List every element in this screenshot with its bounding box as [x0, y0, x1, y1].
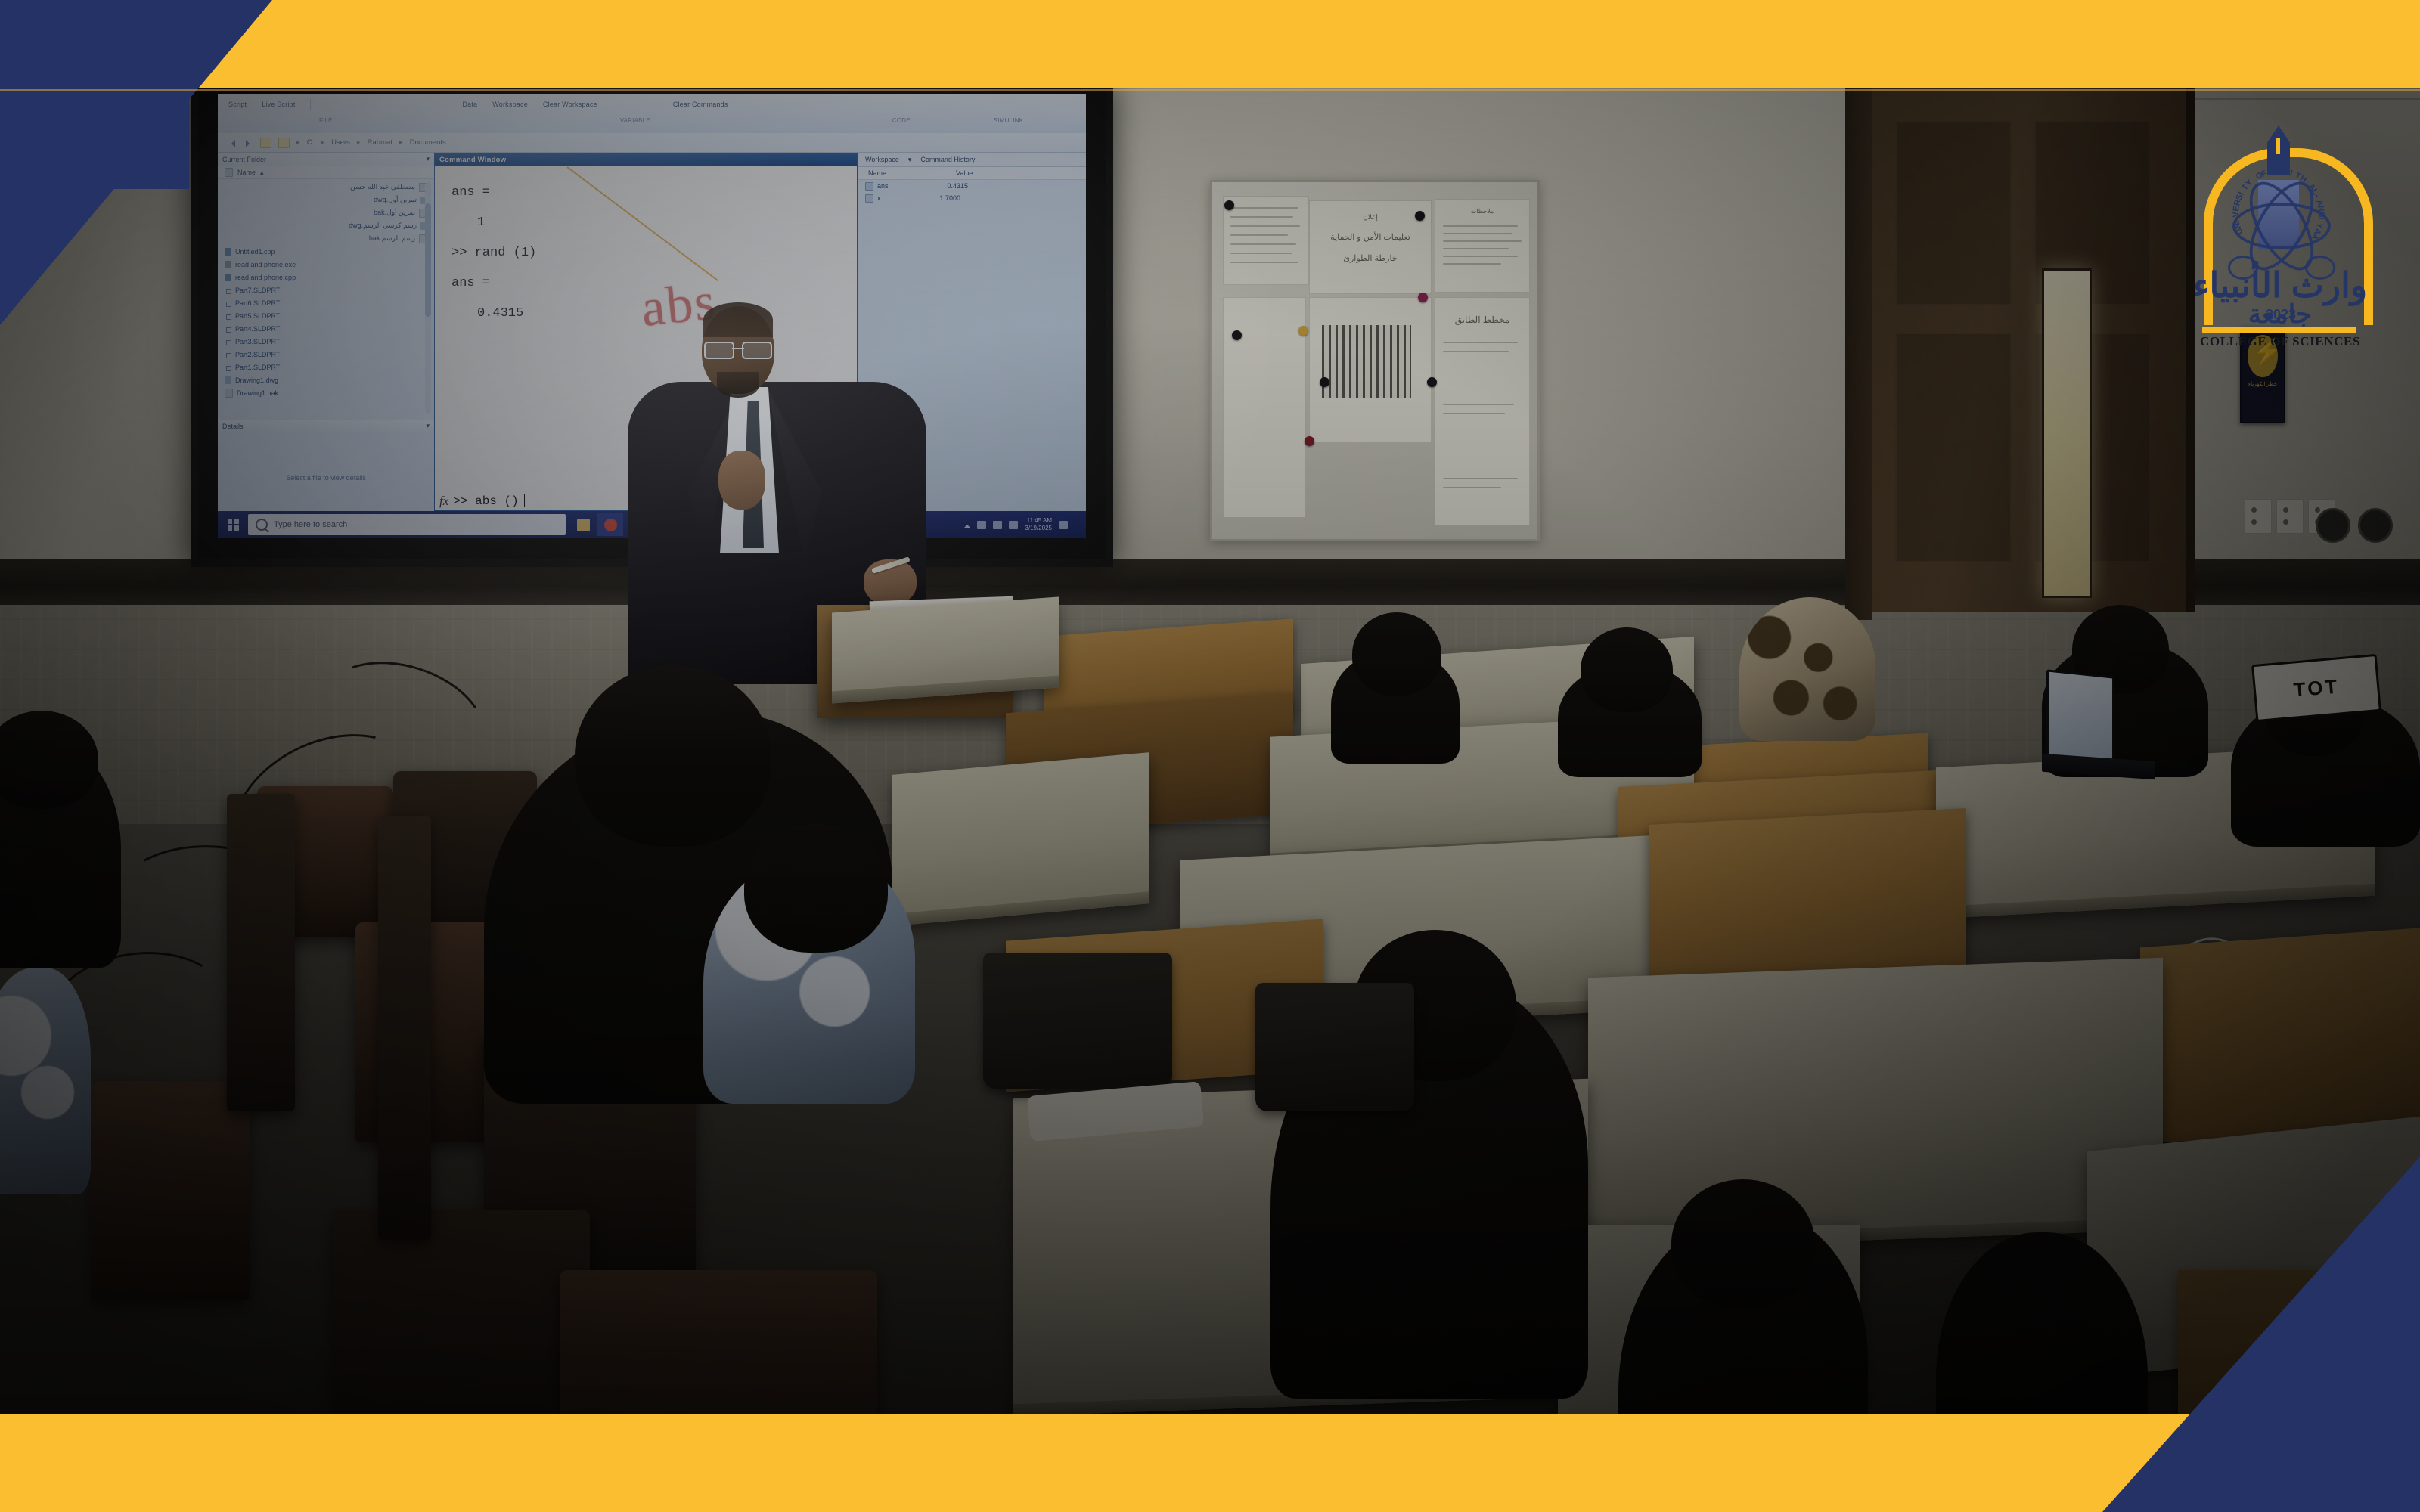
logo-arabic-line1: وارث الأنبياء	[2190, 269, 2370, 302]
logo-year: 2023	[2266, 307, 2296, 323]
classroom-photo: خطر الكهرباء إعلان	[0, 0, 2420, 1512]
logo-arc-letter: I	[2316, 217, 2325, 220]
top-left-navy-block	[0, 0, 189, 189]
university-logo: UNIVERSITY OF WARITH AL-ANBIYAA وارث الأ…	[2186, 121, 2375, 348]
logo-english-caption: COLLEGE OF SCIENCES	[2186, 334, 2375, 349]
screenshot-root: خطر الكهرباء إعلان	[0, 0, 2420, 1512]
bottom-yellow-band	[0, 1414, 2420, 1512]
top-hairline	[0, 89, 2420, 91]
logo-arc-text-ring: UNIVERSITY OF WARITH AL-ANBIYAA	[2228, 163, 2329, 265]
photo-dim-overlay	[0, 0, 2420, 1512]
logo-arc-letter: E	[2232, 206, 2241, 212]
logo-arc-text: UNIVERSITY OF WARITH AL-ANBIYAA	[2228, 163, 2329, 265]
logo-arc-letter: V	[2232, 212, 2242, 218]
logo-base-bar	[2202, 327, 2356, 333]
top-yellow-band	[0, 0, 2420, 88]
